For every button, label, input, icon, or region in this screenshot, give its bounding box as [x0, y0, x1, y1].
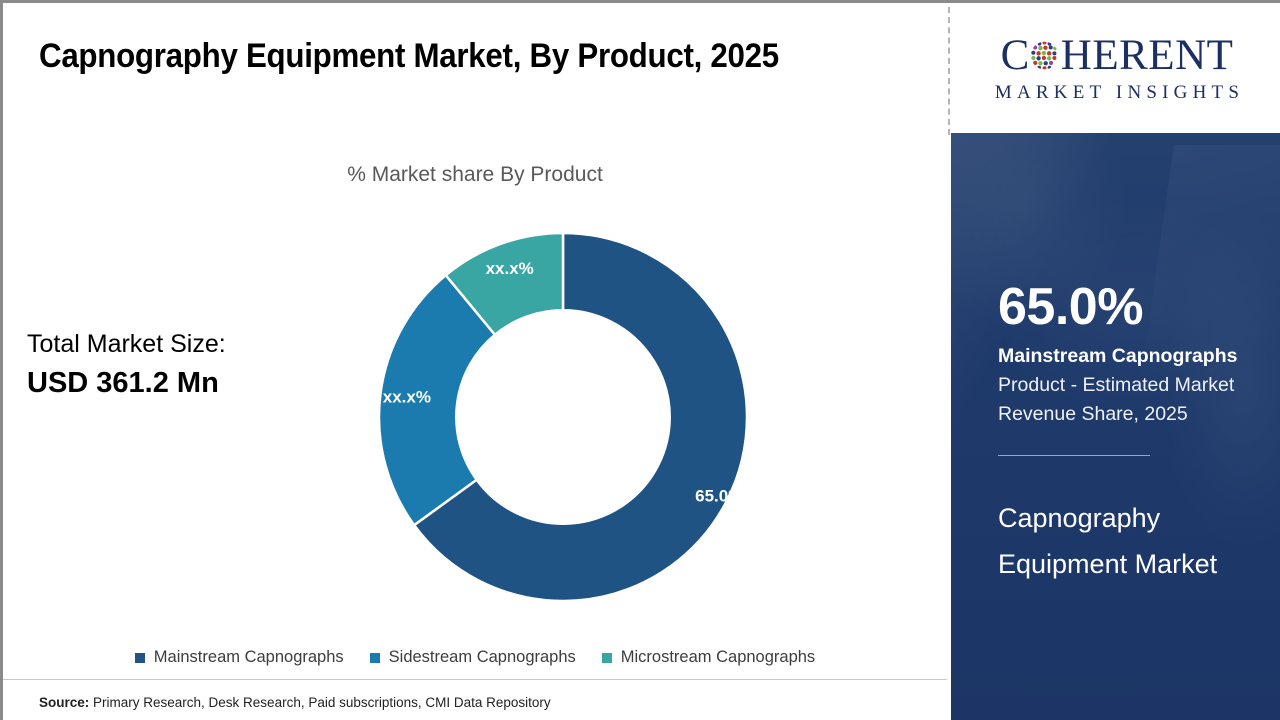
donut-slice-label: xx.x%	[486, 259, 534, 278]
page-title: Capnography Equipment Market, By Product…	[39, 31, 803, 81]
chart-subtitle: % Market share By Product	[3, 163, 947, 187]
legend-item[interactable]: Mainstream Capnographs	[135, 648, 344, 667]
logo-wordmark-text: HERENT	[1061, 34, 1234, 77]
stat-description-bold: Mainstream Capnographs	[998, 345, 1237, 367]
donut-slice-label: xx.x%	[383, 387, 431, 406]
legend-item[interactable]: Microstream Capnographs	[602, 648, 815, 667]
donut-slice-label: 65.0%	[695, 487, 743, 506]
panel-divider	[948, 7, 950, 135]
donut-chart: 65.0%xx.x%xx.x%	[379, 233, 747, 601]
source-text: Primary Research, Desk Research, Paid su…	[89, 695, 550, 710]
legend-item[interactable]: Sidestream Capnographs	[370, 648, 576, 667]
total-market-size: Total Market Size: USD 361.2 Mn	[27, 325, 226, 403]
chart-panel: Capnography Equipment Market, By Product…	[3, 3, 947, 720]
source-label: Source:	[39, 695, 89, 710]
branding-panel: C	[951, 3, 1280, 720]
logo-tagline: MARKET INSIGHTS	[990, 82, 1244, 104]
source-note: Source: Primary Research, Desk Research,…	[39, 695, 551, 710]
stat-description: Mainstream Capnographs Product - Estimat…	[998, 342, 1248, 429]
total-market-value: USD 361.2 Mn	[27, 363, 226, 403]
stat-block: 65.0% Mainstream Capnographs Product - E…	[998, 278, 1248, 429]
logo-wordmark: C	[1001, 32, 1234, 78]
stat-divider	[998, 455, 1150, 456]
legend-label: Microstream Capnographs	[621, 648, 815, 667]
stat-description-rest: Product - Estimated Market Revenue Share…	[998, 374, 1234, 425]
chart-legend: Mainstream CapnographsSidestream Capnogr…	[3, 648, 947, 667]
legend-label: Sidestream Capnographs	[389, 648, 576, 667]
slide-root: Capnography Equipment Market, By Product…	[0, 0, 1280, 720]
donut-chart-svg: 65.0%xx.x%xx.x%	[379, 233, 747, 601]
total-market-label: Total Market Size:	[27, 325, 226, 363]
market-name: Capnography Equipment Market	[998, 495, 1248, 587]
legend-label: Mainstream Capnographs	[154, 648, 344, 667]
stat-percentage: 65.0%	[998, 278, 1248, 336]
logo-letter-c: C	[1001, 34, 1030, 77]
legend-swatch-icon	[135, 653, 145, 663]
source-divider	[3, 679, 947, 680]
company-logo: C	[951, 3, 1280, 133]
highlight-box: 65.0% Mainstream Capnographs Product - E…	[951, 133, 1280, 720]
legend-swatch-icon	[602, 653, 612, 663]
globe-icon	[1029, 40, 1060, 71]
legend-swatch-icon	[370, 653, 380, 663]
